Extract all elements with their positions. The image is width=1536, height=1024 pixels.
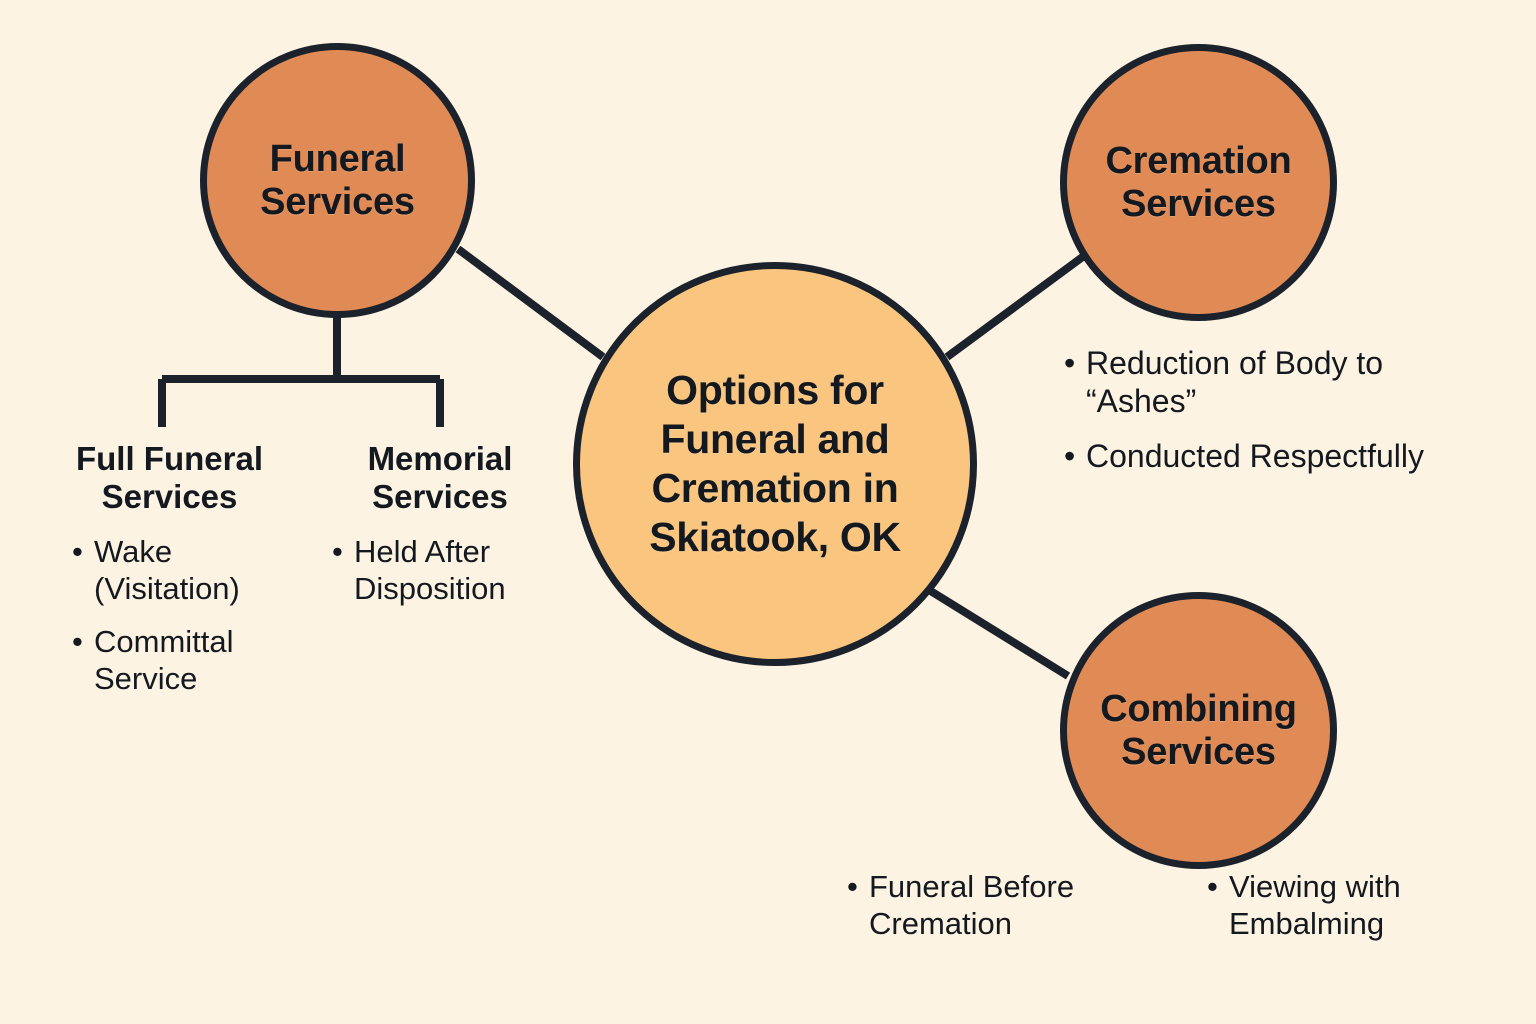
list-item-label: Held After Disposition bbox=[354, 534, 506, 606]
branch-combining-funeral-before-cremation: • Funeral Before Cremation bbox=[845, 868, 1145, 942]
node-cremation-services-label: Cremation Services bbox=[1099, 140, 1297, 225]
list-item-label: Committal Service bbox=[94, 624, 234, 696]
central-topic-line3: Cremation in bbox=[651, 465, 898, 511]
list-item-label: Wake (Visitation) bbox=[94, 534, 240, 606]
branch-full-funeral-services: Full Funeral Services • Wake (Visitation… bbox=[62, 440, 277, 697]
bullet-icon: • bbox=[72, 623, 83, 660]
list-item: • Wake (Visitation) bbox=[70, 533, 277, 607]
connector-center-to-cremation bbox=[947, 250, 1092, 357]
bullet-icon: • bbox=[847, 868, 858, 905]
branch-full-funeral-heading: Full Funeral Services bbox=[62, 440, 277, 517]
bullet-icon: • bbox=[1064, 437, 1075, 475]
node-cremation-services-line1: Cremation bbox=[1105, 140, 1291, 182]
branch-full-funeral-bullet-list: • Wake (Visitation) • Committal Service bbox=[62, 533, 277, 698]
bullet-icon: • bbox=[1207, 868, 1218, 905]
node-central-topic[interactable]: Options for Funeral and Cremation in Ski… bbox=[573, 262, 977, 666]
node-funeral-services-label: Funeral Services bbox=[254, 138, 421, 223]
list-item: • Conducted Respectfully bbox=[1062, 437, 1432, 475]
list-item-label: Conducted Respectfully bbox=[1086, 438, 1424, 474]
list-item-label: Funeral Before Cremation bbox=[869, 869, 1074, 941]
central-topic-line2: Funeral and bbox=[660, 416, 889, 462]
branch-combining-right-bullet-list: • Viewing with Embalming bbox=[1205, 868, 1495, 942]
branch-combining-left-bullet-list: • Funeral Before Cremation bbox=[845, 868, 1145, 942]
connector-funeral-to-center bbox=[458, 249, 603, 357]
node-funeral-services[interactable]: Funeral Services bbox=[200, 43, 475, 318]
node-cremation-services[interactable]: Cremation Services bbox=[1060, 44, 1337, 321]
branch-memorial-heading: Memorial Services bbox=[320, 440, 560, 517]
branch-memorial-services: Memorial Services • Held After Dispositi… bbox=[320, 440, 560, 607]
list-item: • Committal Service bbox=[70, 623, 277, 697]
bullet-icon: • bbox=[1064, 344, 1075, 382]
branch-cremation-bullet-list: • Reduction of Body to “Ashes” • Conduct… bbox=[1062, 344, 1432, 475]
list-item: • Funeral Before Cremation bbox=[845, 868, 1145, 942]
node-combining-services-line2: Services bbox=[1121, 731, 1276, 773]
list-item: • Reduction of Body to “Ashes” bbox=[1062, 344, 1432, 421]
bullet-icon: • bbox=[332, 533, 343, 570]
list-item-label: Reduction of Body to “Ashes” bbox=[1086, 345, 1383, 419]
bullet-icon: • bbox=[72, 533, 83, 570]
node-combining-services-label: Combining Services bbox=[1094, 688, 1303, 773]
list-item: • Held After Disposition bbox=[330, 533, 560, 607]
node-cremation-services-line2: Services bbox=[1121, 183, 1276, 225]
central-topic-line4: Skiatook, OK bbox=[649, 514, 901, 560]
branch-cremation-details: • Reduction of Body to “Ashes” • Conduct… bbox=[1062, 344, 1432, 475]
node-combining-services[interactable]: Combining Services bbox=[1060, 592, 1337, 869]
node-funeral-services-line1: Funeral bbox=[270, 138, 406, 180]
node-funeral-services-line2: Services bbox=[260, 181, 415, 223]
branch-memorial-bullet-list: • Held After Disposition bbox=[320, 533, 560, 607]
node-combining-services-line1: Combining bbox=[1100, 688, 1297, 730]
connector-funeral-bracket bbox=[162, 315, 440, 427]
central-topic-line1: Options for bbox=[666, 367, 884, 413]
connector-center-to-combining bbox=[929, 590, 1068, 676]
central-topic-label: Options for Funeral and Cremation in Ski… bbox=[643, 366, 907, 563]
branch-combining-viewing-with-embalming: • Viewing with Embalming bbox=[1205, 868, 1495, 942]
diagram-canvas: Funeral Services Cremation Services Comb… bbox=[0, 0, 1536, 1024]
list-item: • Viewing with Embalming bbox=[1205, 868, 1495, 942]
list-item-label: Viewing with Embalming bbox=[1229, 869, 1401, 941]
